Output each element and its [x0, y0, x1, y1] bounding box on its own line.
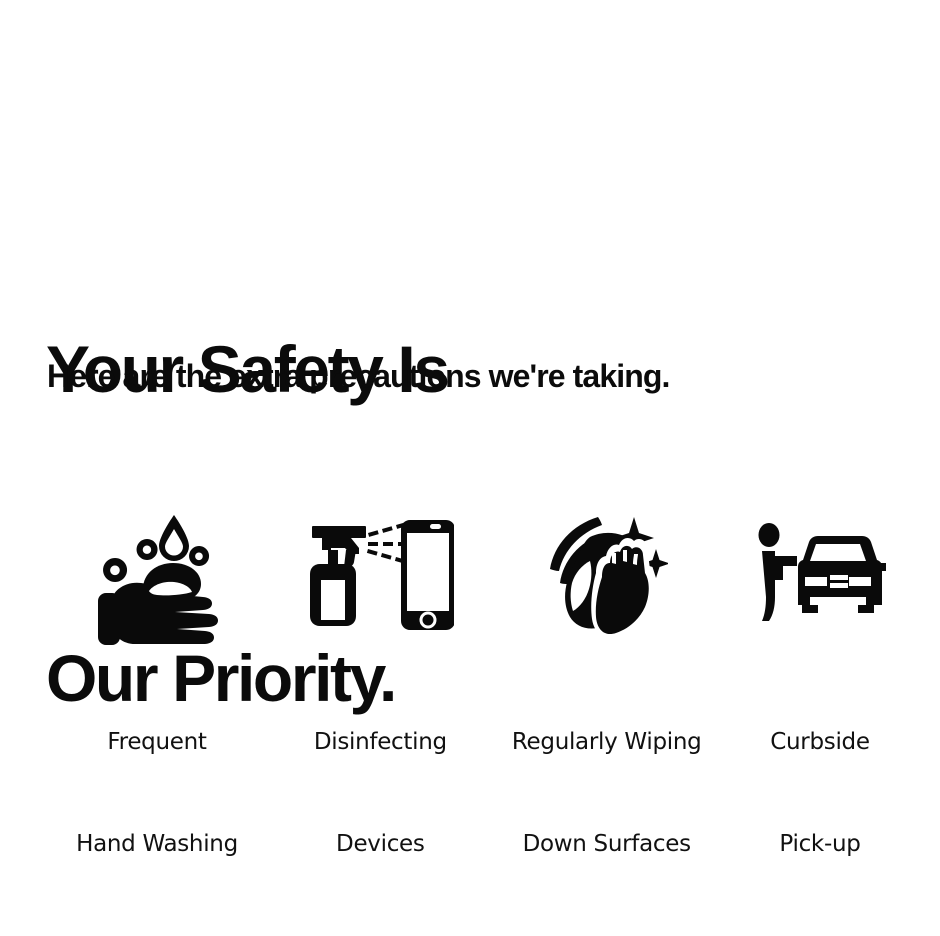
precaution-caption-line-2: Pick-up: [770, 827, 869, 861]
precaution-item-disinfecting-devices: Disinfecting Devices: [287, 500, 473, 929]
precaution-item-hand-washing: Frequent Hand Washing: [46, 500, 268, 929]
precaution-caption-line-1: Regularly Wiping: [512, 725, 702, 759]
precaution-caption-line-1: Disinfecting: [314, 725, 447, 759]
safety-poster: Your Safety Is Our Priority. Here are th…: [0, 0, 940, 788]
spray-bottle-phone-icon: [306, 500, 454, 650]
precaution-item-curbside-pickup: Curbside Pick-up: [740, 500, 900, 929]
precaution-caption-line-2: Hand Washing: [76, 827, 238, 861]
wiping-cloth-sparkle-icon: [546, 500, 668, 650]
precaution-caption-line-2: Down Surfaces: [512, 827, 702, 861]
precaution-caption: Curbside Pick-up: [770, 657, 869, 929]
precautions-list: Frequent Hand Washing: [46, 500, 900, 929]
precaution-caption-line-1: Frequent: [76, 725, 238, 759]
precaution-caption-line-2: Devices: [314, 827, 447, 861]
precaution-caption: Regularly Wiping Down Surfaces: [512, 657, 702, 929]
page-subtitle: Here are the extra precautions we're tak…: [47, 354, 670, 398]
precaution-caption-line-1: Curbside: [770, 725, 869, 759]
precaution-item-wiping-surfaces: Regularly Wiping Down Surfaces: [493, 500, 721, 929]
hand-washing-icon: [91, 500, 223, 650]
person-car-curbside-icon: [754, 500, 886, 650]
precaution-caption: Disinfecting Devices: [314, 657, 447, 929]
precaution-caption: Frequent Hand Washing: [76, 657, 238, 929]
